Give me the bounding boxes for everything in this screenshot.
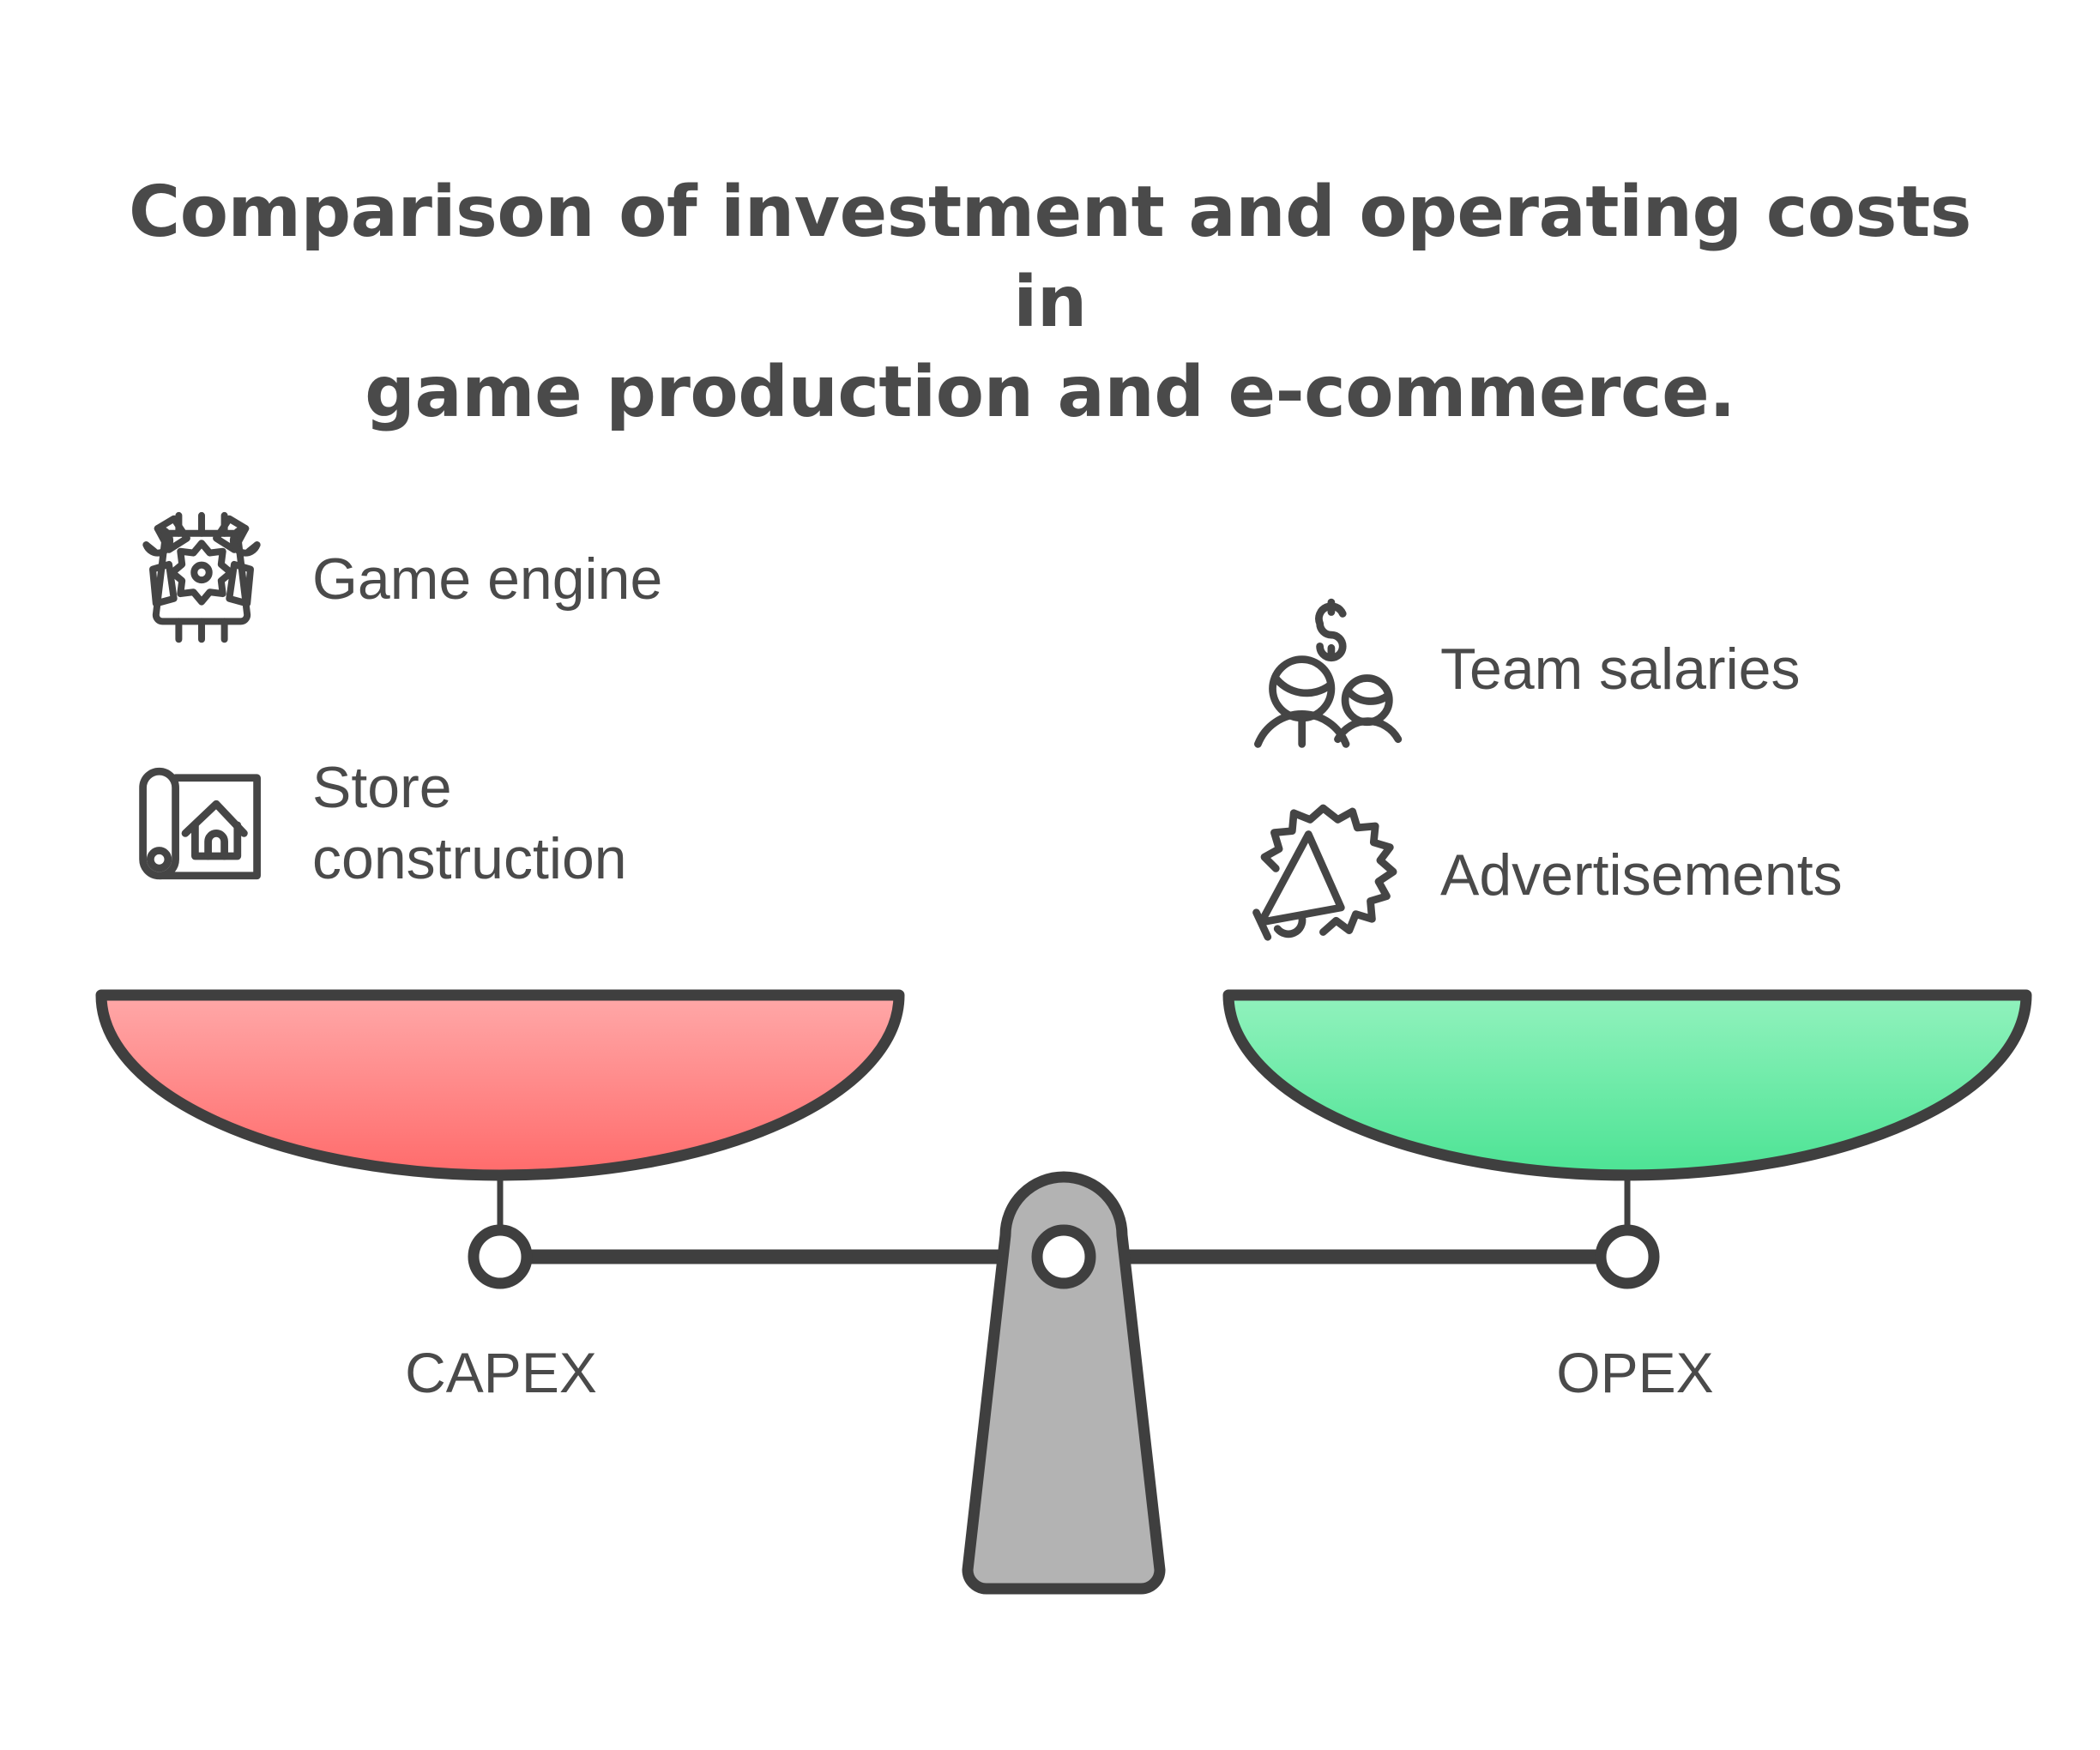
infographic-canvas: Comparison of investment and operating c…	[0, 0, 2100, 1750]
capex-item-label: Store construction	[312, 752, 627, 895]
opex-item-label: Team salaries	[1440, 634, 1801, 705]
opex-item-advertisements: Advertisements	[1248, 794, 1843, 956]
opex-item-label: Advertisements	[1440, 840, 1843, 911]
people-dollar-icon	[1248, 588, 1411, 751]
opex-pan	[1228, 995, 2026, 1175]
capex-beam-ring	[474, 1230, 527, 1283]
capex-item-label: Game engine	[312, 544, 662, 615]
page-title: Comparison of investment and operating c…	[89, 168, 2011, 438]
opex-item-team-salaries: Team salaries	[1248, 588, 1801, 751]
capex-item-game-engine: Game engine	[120, 498, 662, 661]
opex-beam-ring	[1601, 1230, 1654, 1283]
capex-item-store-construction: Store construction	[120, 742, 627, 905]
blueprint-house-icon	[120, 742, 283, 905]
capex-label: CAPEX	[287, 1340, 715, 1405]
game-engine-icon	[120, 498, 283, 661]
fulcrum-pivot	[1037, 1230, 1090, 1283]
capex-pan	[101, 995, 899, 1175]
opex-label: OPEX	[1421, 1340, 1850, 1405]
megaphone-burst-icon	[1248, 794, 1411, 956]
balance-scale	[0, 978, 2100, 1630]
